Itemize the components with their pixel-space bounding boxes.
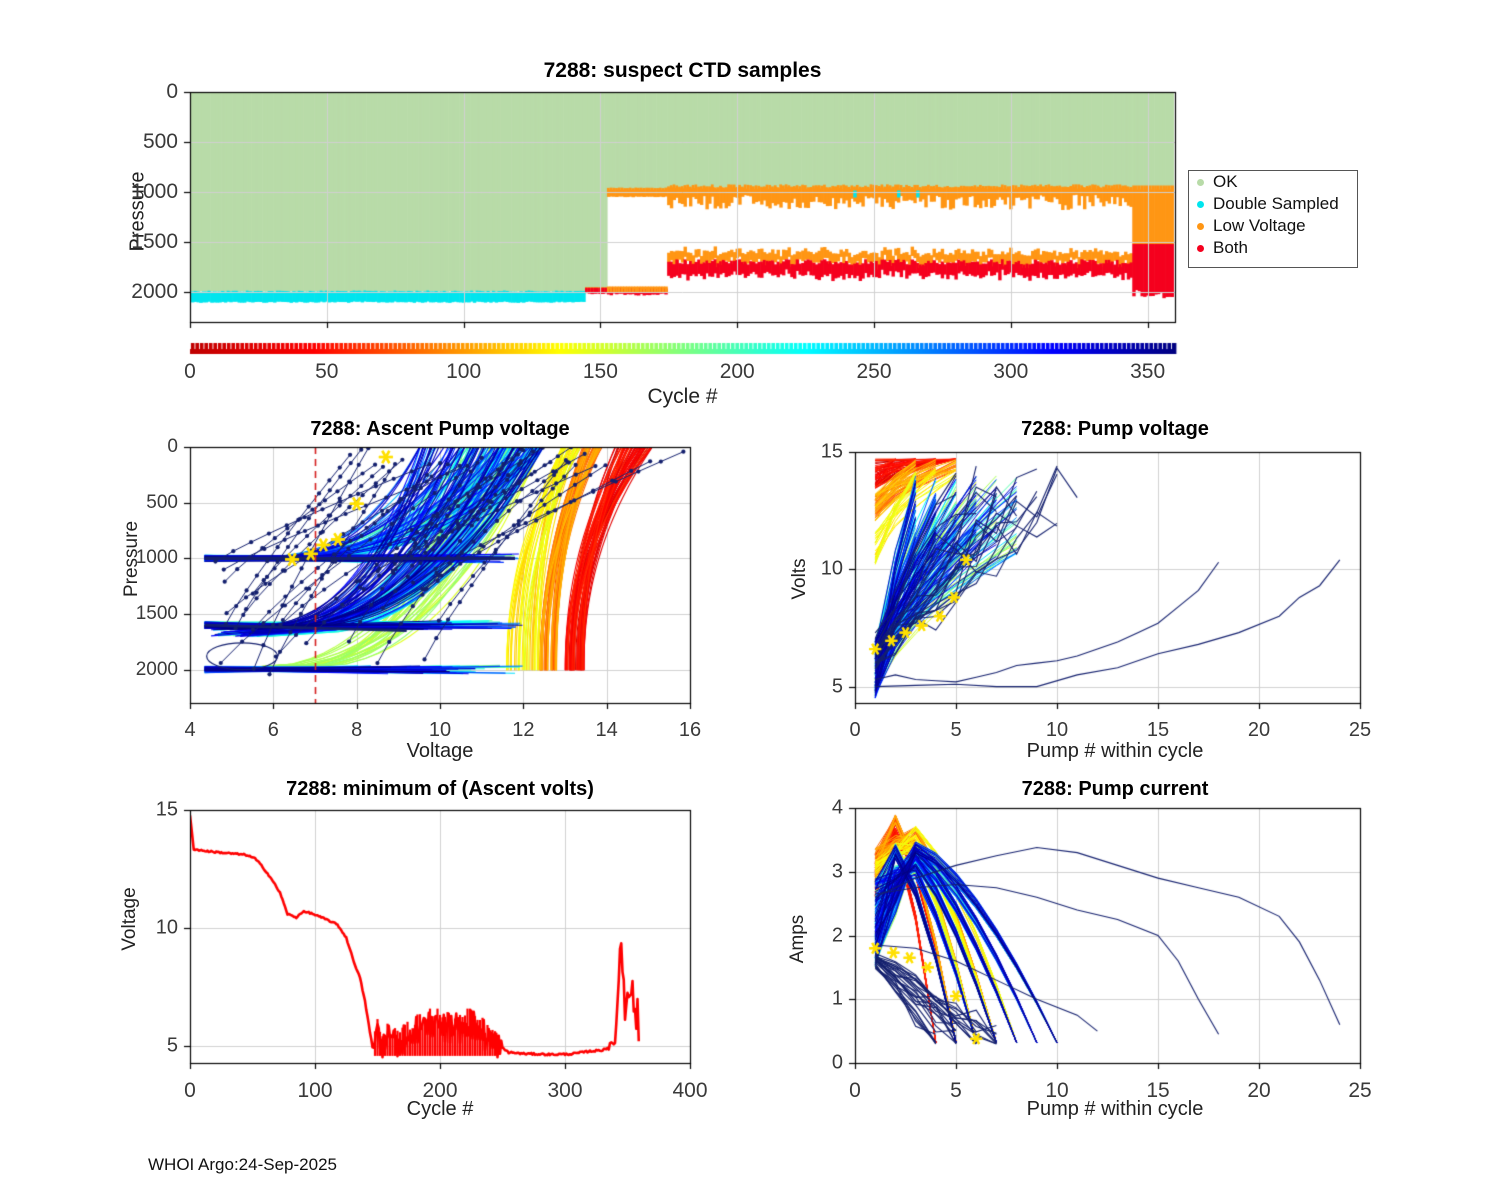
axis-tick-label: 50 (315, 360, 338, 384)
axis-tick-label: 300 (547, 1079, 582, 1103)
axis-tick-label: 15 (821, 441, 843, 464)
axis-tick-label: 15 (1146, 1079, 1169, 1103)
axis-tick-label: 12 (512, 719, 534, 742)
axis-tick-label: 5 (832, 675, 843, 698)
axis-label-amps: Amps (787, 879, 809, 999)
legend-swatch-double-sampled (1197, 201, 1204, 208)
axis-tick-label: 4 (832, 797, 843, 820)
axis-tick-label: 5 (950, 1079, 962, 1103)
axis-tick-label: 350 (1130, 360, 1165, 384)
axis-tick-label: 14 (596, 719, 618, 742)
legend-label-double-sampled: Double Sampled (1213, 194, 1339, 214)
axis-tick-label: 0 (166, 80, 178, 104)
legend-swatch-low-voltage (1197, 223, 1204, 230)
axis-tick-label: 250 (856, 360, 891, 384)
axis-tick-label: 4 (184, 719, 195, 742)
axis-label-pump-number-voltage: Pump # within cycle (855, 740, 1375, 763)
axis-tick-label: 2 (832, 924, 843, 947)
axis-tick-label: 200 (720, 360, 755, 384)
axis-tick-label: 10 (429, 719, 451, 742)
axis-tick-label: 2000 (136, 659, 178, 681)
axis-tick-label: 5 (950, 719, 961, 742)
axis-label-voltage-min: Voltage (119, 849, 141, 989)
legend-item-double-sampled[interactable]: Double Sampled (1189, 193, 1357, 215)
legend-item-low-voltage[interactable]: Low Voltage (1189, 215, 1357, 237)
axis-tick-label: 300 (993, 360, 1028, 384)
axis-tick-label: 0 (184, 360, 196, 384)
axis-label-voltage-ascent: Voltage (190, 740, 690, 763)
legend-label-low-voltage: Low Voltage (1213, 216, 1306, 236)
legend-item-both[interactable]: Both (1189, 237, 1357, 259)
axis-label-volts: Volts (789, 519, 811, 639)
panel-title-minimum-ascent-volts: 7288: minimum of (Ascent volts) (190, 778, 690, 801)
panel-title-ascent-pump-voltage: 7288: Ascent Pump voltage (190, 418, 690, 441)
axis-tick-label: 1000 (131, 180, 178, 204)
axis-tick-label: 8 (351, 719, 362, 742)
axis-tick-label: 1500 (136, 603, 178, 625)
axis-tick-label: 2000 (131, 280, 178, 304)
axis-tick-label: 500 (146, 492, 178, 514)
axis-tick-label: 150 (583, 360, 618, 384)
axis-tick-label: 0 (849, 1079, 861, 1103)
legend-swatch-both (1197, 245, 1204, 252)
axis-tick-label: 15 (156, 799, 178, 822)
axis-tick-label: 20 (1247, 1079, 1270, 1103)
axis-tick-label: 10 (821, 558, 843, 581)
axis-tick-label: 16 (679, 719, 701, 742)
axis-tick-label: 200 (422, 1079, 457, 1103)
legend-label-both: Both (1213, 238, 1248, 258)
axis-label-pressure-top: Pressure (127, 142, 150, 282)
axis-tick-label: 100 (297, 1079, 332, 1103)
axis-tick-label: 6 (268, 719, 279, 742)
figure-footer: WHOI Argo:24-Sep-2025 (148, 1155, 337, 1175)
panel-title-pump-voltage: 7288: Pump voltage (855, 418, 1375, 441)
axis-tick-label: 0 (184, 1079, 196, 1103)
axis-tick-label: 0 (832, 1052, 843, 1075)
axis-tick-label: 400 (672, 1079, 707, 1103)
axis-tick-label: 25 (1348, 1079, 1371, 1103)
panel-title-suspect-ctd: 7288: suspect CTD samples (190, 59, 1175, 83)
axis-tick-label: 10 (156, 917, 178, 940)
axis-tick-label: 5 (167, 1035, 178, 1058)
legend: OK Double Sampled Low Voltage Both (1188, 170, 1358, 268)
axis-tick-label: 15 (1147, 719, 1169, 742)
axis-tick-label: 0 (167, 436, 178, 458)
axis-tick-label: 1500 (131, 230, 178, 254)
axis-tick-label: 20 (1248, 719, 1270, 742)
axis-label-cycle-top: Cycle # (190, 385, 1175, 409)
axis-tick-label: 0 (849, 719, 860, 742)
axis-tick-label: 10 (1045, 1079, 1068, 1103)
axis-tick-label: 1 (832, 988, 843, 1011)
axis-tick-label: 25 (1349, 719, 1371, 742)
legend-swatch-ok (1197, 179, 1204, 186)
axis-label-pump-number-current: Pump # within cycle (855, 1098, 1375, 1121)
axis-tick-label: 100 (446, 360, 481, 384)
legend-label-ok: OK (1213, 172, 1238, 192)
axis-tick-label: 1000 (136, 547, 178, 569)
legend-item-ok[interactable]: OK (1189, 171, 1357, 193)
axis-tick-label: 10 (1046, 719, 1068, 742)
panel-title-pump-current: 7288: Pump current (855, 778, 1375, 801)
axis-tick-label: 500 (143, 130, 178, 154)
axis-tick-label: 3 (832, 860, 843, 883)
